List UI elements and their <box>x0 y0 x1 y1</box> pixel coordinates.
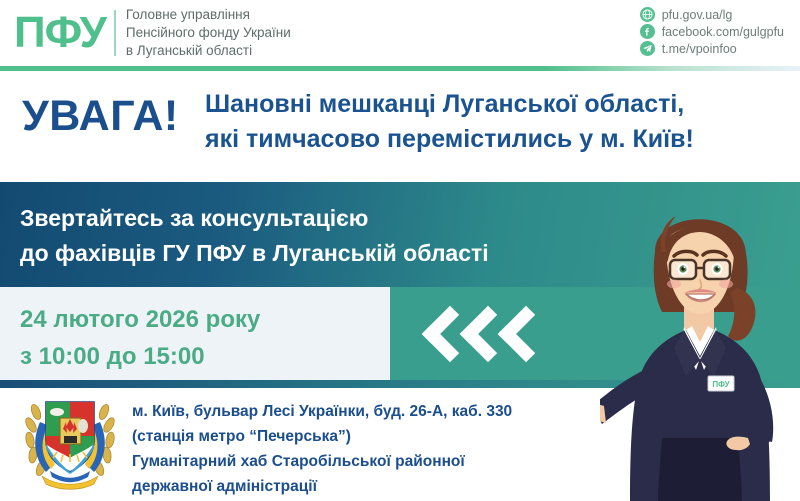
address-line-1: м. Київ, бульвар Лесі Українки, буд. 26-… <box>132 399 512 424</box>
contact-links: pfu.gov.ua/lg facebook.com/gulgpfu t.me/… <box>640 7 784 56</box>
telegram-icon <box>640 41 655 56</box>
schedule-text: 24 лютого 2026 року з 10:00 до 15:00 <box>20 301 260 375</box>
globe-icon <box>640 7 655 22</box>
header: ПФУ Головне управління Пенсійного фонду … <box>0 0 800 68</box>
attention-label: УВАГА! <box>22 95 179 138</box>
pension-fund-announcement-poster: ПФУ Головне управління Пенсійного фонду … <box>0 0 800 501</box>
org-line-3: в Луганській області <box>126 42 291 60</box>
org-line-2: Пенсійного фонду України <box>126 24 291 42</box>
contact-telegram[interactable]: t.me/vpoinfoo <box>640 41 784 56</box>
consultant-woman-illustration: ПФУ <box>600 180 800 501</box>
contact-telegram-label: t.me/vpoinfoo <box>662 42 737 56</box>
facebook-icon <box>640 24 655 39</box>
headline-message: Шановні мешканці Луганської області, які… <box>205 87 694 156</box>
logo-divider <box>114 10 116 56</box>
banner-line-2: до фахівців ГУ ПФУ в Луганській області <box>20 236 489 271</box>
svg-text:ПФУ: ПФУ <box>712 380 730 389</box>
address-line-4: державної адміністрації <box>132 474 512 499</box>
banner-line-1: Звертайтесь за консультацією <box>20 201 489 236</box>
contact-facebook[interactable]: facebook.com/gulgpfu <box>640 24 784 39</box>
schedule-date: 24 лютого 2026 року <box>20 301 260 338</box>
org-line-1: Головне управління <box>126 6 291 24</box>
address-line-3: Гуманітарний хаб Старобільської районної <box>132 449 512 474</box>
contact-website[interactable]: pfu.gov.ua/lg <box>640 7 784 22</box>
organization-logo: ПФУ Головне управління Пенсійного фонду … <box>14 6 291 59</box>
headline-section: УВАГА! Шановні мешканці Луганської облас… <box>0 71 800 182</box>
address-line-2: (станція метро “Печерська”) <box>132 424 512 449</box>
contact-website-label: pfu.gov.ua/lg <box>662 8 733 22</box>
luhansk-oblast-coat-of-arms <box>20 392 120 496</box>
address-text: м. Київ, бульвар Лесі Українки, буд. 26-… <box>132 399 512 499</box>
schedule-time: з 10:00 до 15:00 <box>20 338 260 375</box>
headline-line-2: які тимчасово перемістились у м. Київ! <box>205 122 694 157</box>
pfu-logo-mark: ПФУ <box>14 11 106 55</box>
contact-facebook-label: facebook.com/gulgpfu <box>662 25 784 39</box>
organization-name: Головне управління Пенсійного фонду Укра… <box>126 6 291 59</box>
consultation-message: Звертайтесь за консультацією до фахівців… <box>20 201 489 270</box>
chevron-left-icon-3 <box>498 305 555 362</box>
headline-line-1: Шановні мешканці Луганської області, <box>205 87 694 122</box>
